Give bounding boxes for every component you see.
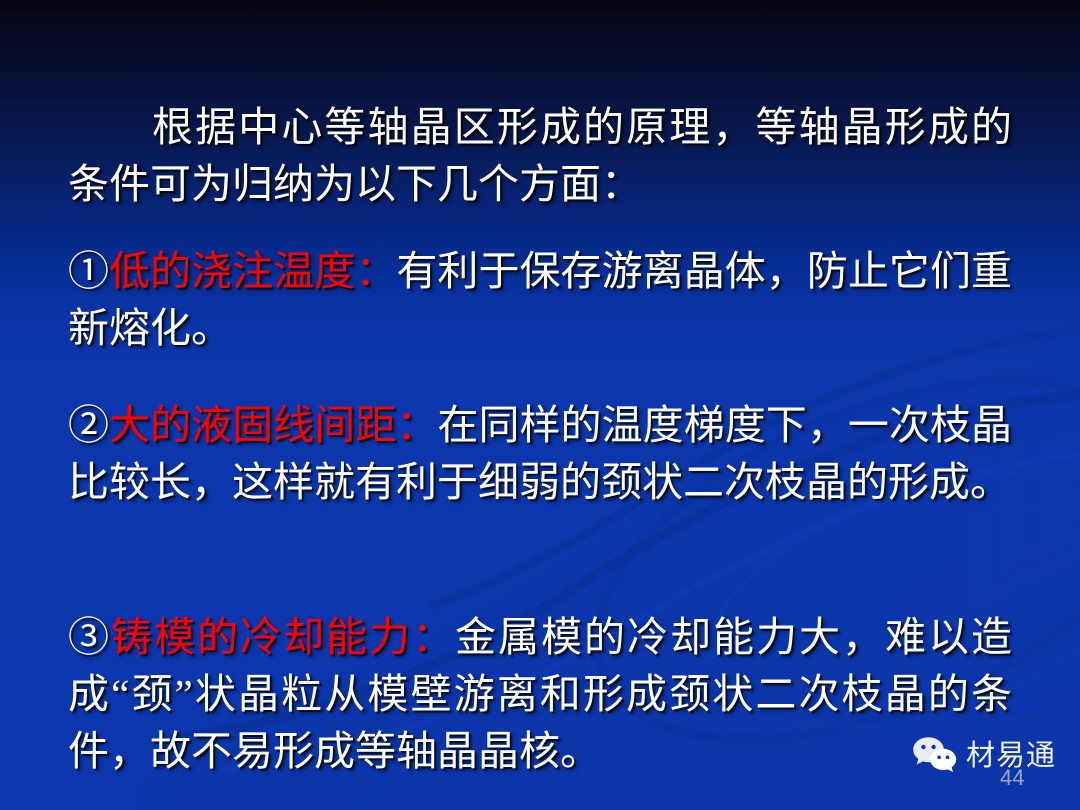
list-item-2: ②大的液固线间距：在同样的温度梯度下，一次枝晶比较长，这样就有利于细弱的颈状二次… bbox=[68, 397, 1012, 511]
list-item-1: ①低的浇注温度：有利于保存游离晶体，防止它们重新熔化。 bbox=[68, 243, 1012, 357]
page-number: 44 bbox=[1000, 766, 1024, 790]
intro-paragraph: 根据中心等轴晶区形成的原理，等轴晶形成的条件可为归纳为以下几个方面： bbox=[68, 99, 1012, 213]
list-item-1-marker: ① bbox=[68, 248, 109, 294]
list-item-3-marker: ③ bbox=[68, 614, 111, 660]
list-item-3: ③铸模的冷却能力：金属模的冷却能力大，难以造成“颈”状晶粒从模壁游离和形成颈状二… bbox=[68, 609, 1012, 780]
presentation-slide: 根据中心等轴晶区形成的原理，等轴晶形成的条件可为归纳为以下几个方面： ①低的浇注… bbox=[0, 0, 1080, 810]
wechat-icon bbox=[912, 735, 958, 777]
slide-content: 根据中心等轴晶区形成的原理，等轴晶形成的条件可为归纳为以下几个方面： ①低的浇注… bbox=[0, 0, 1080, 810]
list-item-2-marker: ② bbox=[68, 402, 109, 448]
list-item-2-heading: 大的液固线间距： bbox=[109, 402, 437, 448]
list-item-3-heading: 铸模的冷却能力： bbox=[111, 614, 455, 660]
list-item-1-heading: 低的浇注温度： bbox=[109, 248, 396, 294]
wechat-watermark: 材易通 bbox=[912, 735, 1056, 777]
